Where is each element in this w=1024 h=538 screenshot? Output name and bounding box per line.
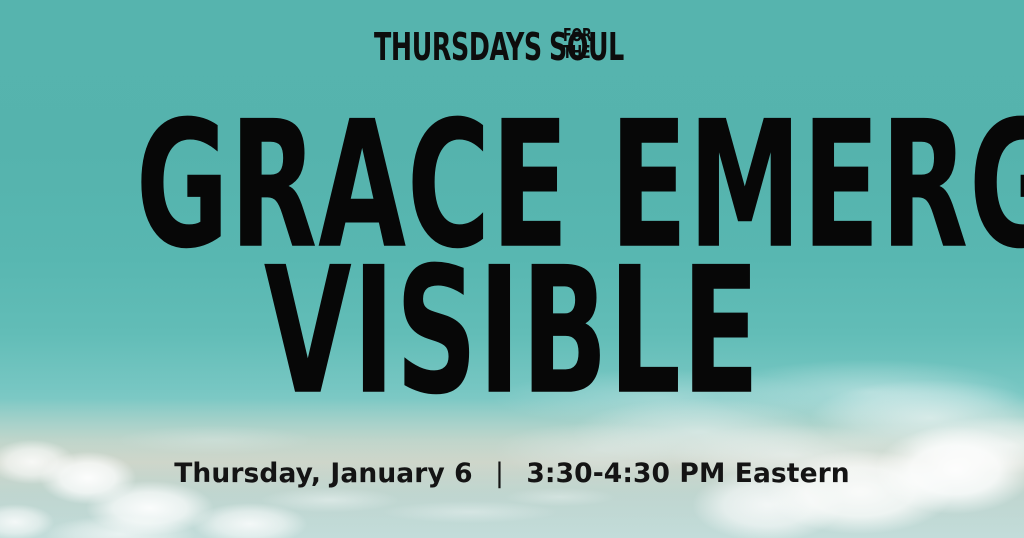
banner-content: THURSDAYS FOR THE SOUL GRACE EMERGED VIS… [0,0,1024,538]
event-separator: | [482,458,517,489]
promo-banner: THURSDAYS FOR THE SOUL GRACE EMERGED VIS… [0,0,1024,538]
event-time: 3:30-4:30 PM Eastern [526,458,849,489]
page-title: GRACE EMERGED VISIBLE [0,104,1024,410]
brand-logo: THURSDAYS FOR THE SOUL [0,28,1024,62]
event-details: Thursday, January 6 | 3:30-4:30 PM Easte… [0,458,1024,489]
event-date: Thursday, January 6 [174,458,472,489]
logo-word-soul: SOUL [549,32,624,62]
logo-word-thursdays: THURSDAYS [374,32,542,62]
headline-line-2: VISIBLE [136,250,889,413]
